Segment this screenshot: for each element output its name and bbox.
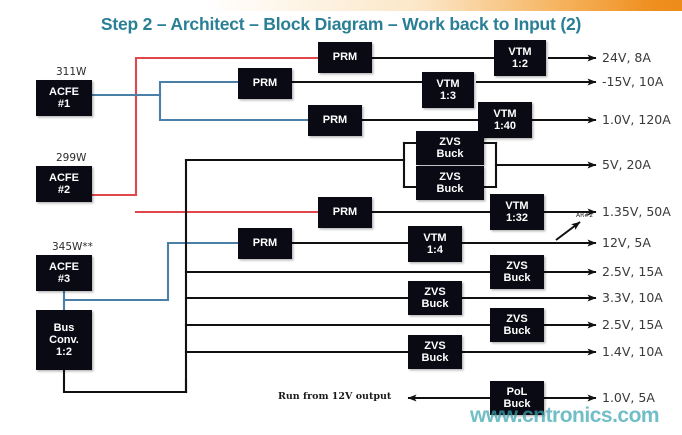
- output-label-3: 1.0V, 120A: [602, 112, 671, 127]
- block-zvs-buck-d-line1: ZVS: [424, 286, 445, 298]
- output-label-5: 1.35V, 50A: [602, 204, 671, 219]
- block-prm-1-label: PRM: [333, 51, 357, 63]
- block-bus-converter: Bus Conv. 1:2: [36, 310, 92, 370]
- block-zvs-buck-f-line2: Buck: [422, 352, 449, 364]
- block-zvs-buck-f-line1: ZVS: [424, 340, 445, 352]
- block-zvs-buck-c-line2: Buck: [504, 272, 531, 284]
- block-zvs-buck-b: ZVS Buck: [416, 166, 484, 200]
- block-prm-4-label: PRM: [333, 206, 357, 218]
- block-vtm-1-2-line1: VTM: [508, 46, 531, 58]
- block-acfe-2: ACFE #2: [36, 166, 92, 202]
- block-zvs-buck-c-line1: ZVS: [506, 260, 527, 272]
- output-label-1: 24V, 8A: [602, 50, 651, 65]
- output-label-7: 2.5V, 15A: [602, 264, 663, 279]
- block-vtm-1-3-line2: 1:3: [440, 90, 456, 102]
- block-vtm-1-40-line2: 1:40: [494, 120, 516, 132]
- block-acfe-1-line1: ACFE: [49, 86, 79, 98]
- block-acfe-3-line2: #3: [58, 273, 70, 285]
- block-zvs-buck-f: ZVS Buck: [408, 335, 462, 369]
- block-zvs-buck-c: ZVS Buck: [490, 255, 544, 289]
- block-vtm-1-4: VTM 1:4: [408, 226, 462, 262]
- block-zvs-buck-b-line2: Buck: [437, 183, 464, 195]
- block-prm-5: PRM: [238, 228, 292, 259]
- watermark: www.cntronics.com: [470, 404, 659, 428]
- block-vtm-1-40-line1: VTM: [493, 108, 516, 120]
- output-label-2: -15V, 10A: [602, 74, 663, 89]
- block-vtm-1-32-line1: VTM: [505, 200, 528, 212]
- block-prm-3-label: PRM: [323, 114, 347, 126]
- power-label-acfe-2: 299W: [56, 152, 86, 164]
- bus-converter-line3: 1:2: [56, 346, 72, 358]
- ar2-callout-arrow: [556, 222, 580, 240]
- bus-converter-line2: Conv.: [49, 334, 79, 346]
- power-label-acfe-3: 345W**: [52, 241, 93, 253]
- block-vtm-1-3: VTM 1:3: [422, 72, 474, 108]
- ar2-annotation: AR#2: [576, 212, 593, 219]
- block-vtm-1-40: VTM 1:40: [478, 102, 532, 138]
- block-prm-3: PRM: [308, 105, 362, 136]
- output-label-4: 5V, 20A: [602, 157, 651, 172]
- output-label-9: 2.5V, 15A: [602, 317, 663, 332]
- block-acfe-2-line1: ACFE: [49, 172, 79, 184]
- block-acfe-1-line2: #1: [58, 98, 70, 110]
- output-label-10: 1.4V, 10A: [602, 344, 663, 359]
- block-vtm-1-3-line1: VTM: [436, 78, 459, 90]
- block-zvs-buck-b-line1: ZVS: [439, 171, 460, 183]
- block-acfe-2-line2: #2: [58, 184, 70, 196]
- output-label-8: 3.3V, 10A: [602, 290, 663, 305]
- block-pol-buck-line1: PoL: [507, 386, 528, 398]
- power-label-acfe-1: 311W: [56, 66, 86, 78]
- block-vtm-1-2-line2: 1:2: [512, 58, 528, 70]
- block-zvs-buck-e-line2: Buck: [504, 325, 531, 337]
- block-acfe-3-line1: ACFE: [49, 261, 79, 273]
- block-zvs-buck-e: ZVS Buck: [490, 308, 544, 342]
- block-zvs-buck-d-line2: Buck: [422, 298, 449, 310]
- block-vtm-1-4-line1: VTM: [423, 232, 446, 244]
- page-title: Step 2 – Architect – Block Diagram – Wor…: [0, 14, 682, 35]
- block-vtm-1-32-line2: 1:32: [506, 212, 528, 224]
- block-prm-5-label: PRM: [253, 237, 277, 249]
- block-zvs-buck-a-line1: ZVS: [439, 136, 460, 148]
- block-acfe-3: ACFE #3: [36, 255, 92, 291]
- block-zvs-buck-d: ZVS Buck: [408, 281, 462, 315]
- block-zvs-buck-a-line2: Buck: [437, 148, 464, 160]
- bus-converter-line1: Bus: [54, 322, 75, 334]
- block-vtm-1-32: VTM 1:32: [490, 194, 544, 230]
- block-prm-2: PRM: [238, 68, 292, 99]
- run-from-12v-note: Run from 12V output: [278, 391, 391, 402]
- block-prm-2-label: PRM: [253, 77, 277, 89]
- output-label-6: 12V, 5A: [602, 235, 651, 250]
- output-label-11: 1.0V, 5A: [602, 390, 655, 405]
- header-accent-bar: [0, 0, 682, 11]
- block-prm-1: PRM: [318, 42, 372, 73]
- block-acfe-1: ACFE #1: [36, 80, 92, 116]
- block-prm-4: PRM: [318, 197, 372, 228]
- block-zvs-buck-e-line1: ZVS: [506, 313, 527, 325]
- block-vtm-1-4-line2: 1:4: [427, 244, 443, 256]
- block-vtm-1-2: VTM 1:2: [494, 40, 546, 76]
- block-zvs-buck-a: ZVS Buck: [416, 131, 484, 165]
